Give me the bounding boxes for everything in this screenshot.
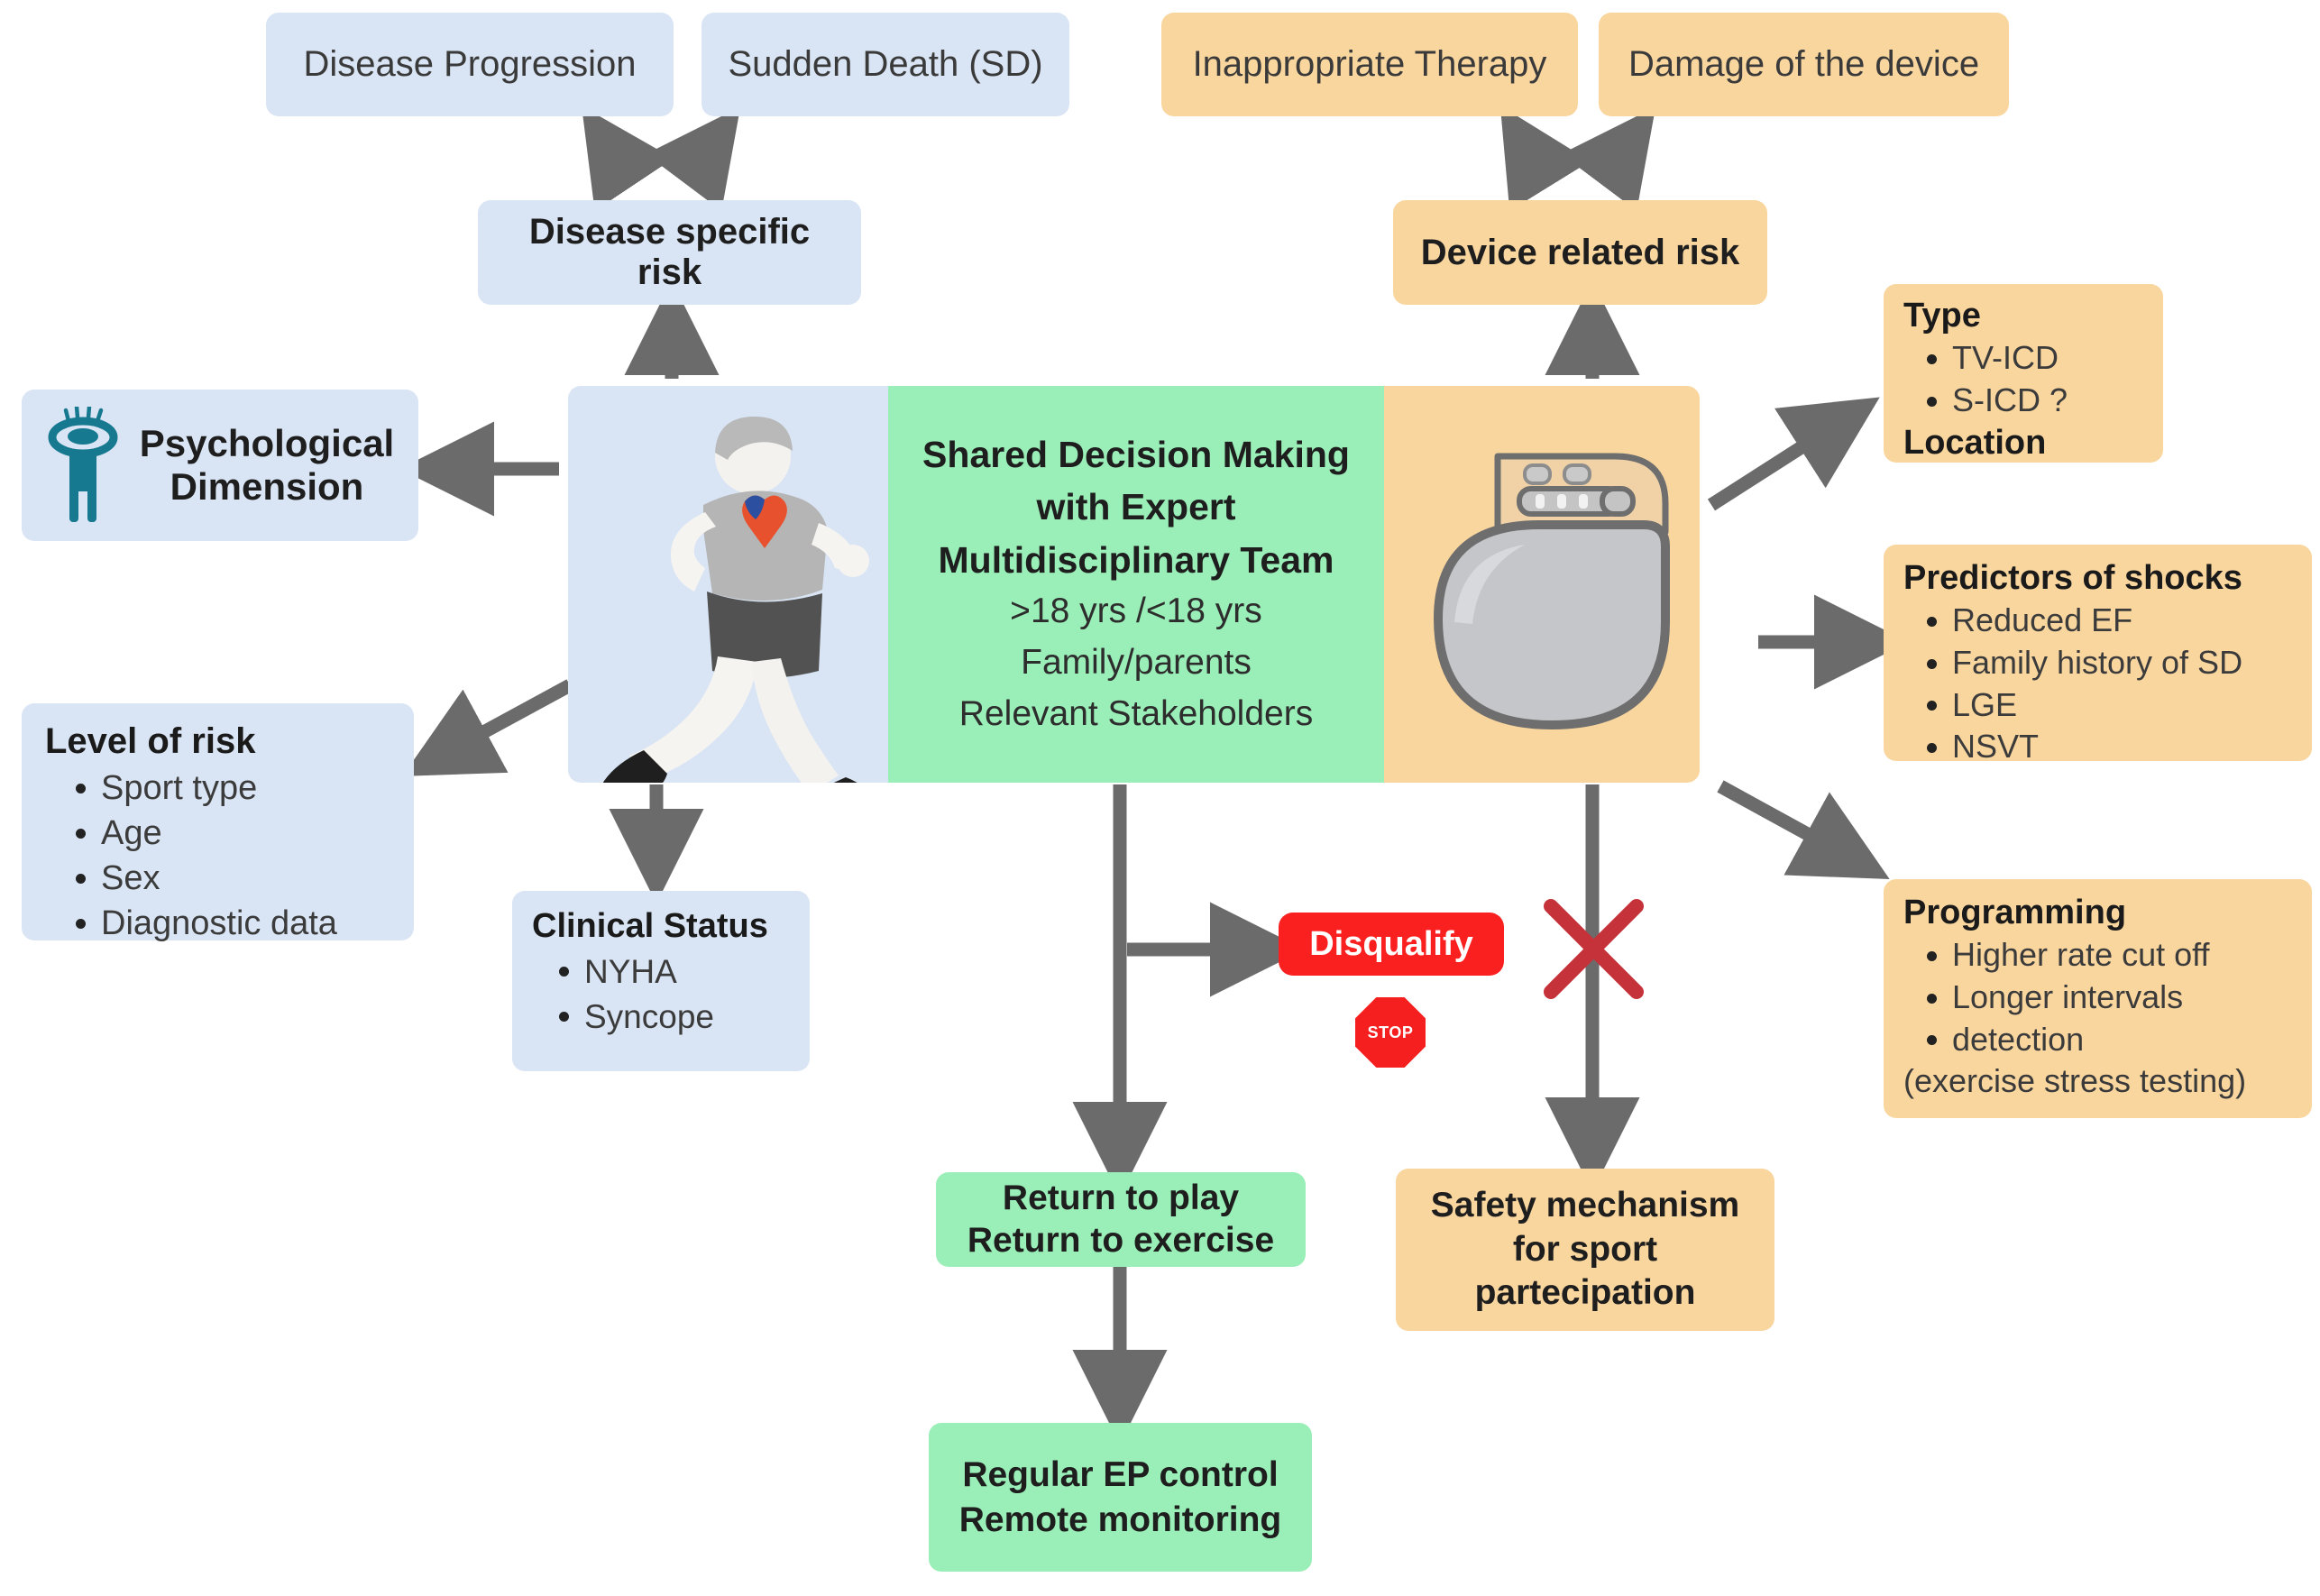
disease-specific-risk-line1: Disease specific (478, 212, 861, 252)
list-item: Family history of SD (1952, 642, 2299, 684)
stop-sign-icon: STOP (1355, 997, 1426, 1068)
sudden-death-label: Sudden Death (SD) (702, 44, 1069, 85)
panel-device-orange[interactable] (1384, 386, 1700, 783)
list-item: Reduced EF (1952, 600, 2299, 642)
device-related-risk-label: Device related risk (1393, 233, 1767, 273)
psychology-person-icon (41, 407, 124, 524)
regular-ep-line1: Regular EP control (929, 1453, 1312, 1498)
sdm-line6: Relevant Stakeholders (888, 689, 1384, 740)
level-of-risk-list: Sport type Age Sex Diagnostic data (45, 766, 396, 947)
psychological-dimension-line1: Psychological (124, 422, 409, 465)
box-disease-specific-risk[interactable]: Disease specific risk (478, 200, 861, 305)
sdm-line2: with Expert (888, 481, 1384, 533)
type-header: Type (1903, 297, 2150, 335)
box-programming[interactable]: Programming Higher rate cut off Longer i… (1884, 879, 2312, 1118)
list-item: LGE (1952, 684, 2299, 727)
return-to-play-line1: Return to play (936, 1178, 1306, 1220)
box-inappropriate-therapy[interactable]: Inappropriate Therapy (1161, 13, 1578, 116)
list-item: NSVT (1952, 726, 2299, 768)
level-of-risk-header: Level of risk (45, 721, 396, 762)
safety-line2: for sport (1396, 1228, 1774, 1271)
predictors-list: Reduced EF Family history of SD LGE NSVT (1903, 600, 2299, 768)
sdm-line5: Family/parents (888, 637, 1384, 689)
sdm-line4: >18 yrs /<18 yrs (888, 586, 1384, 637)
box-safety-mechanism[interactable]: Safety mechanism for sport partecipation (1396, 1169, 1774, 1331)
panel-shared-decision-making[interactable]: Shared Decision Making with Expert Multi… (888, 386, 1384, 783)
list-item: Higher rate cut off (1952, 934, 2299, 977)
badge-disqualify[interactable]: Disqualify (1279, 913, 1504, 976)
box-damage-of-device[interactable]: Damage of the device (1599, 13, 2009, 116)
box-disease-progression[interactable]: Disease Progression (266, 13, 674, 116)
sdm-line3: Multidisciplinary Team (888, 534, 1384, 586)
list-item: Syncope (584, 995, 793, 1040)
box-psychological-dimension[interactable]: Psychological Dimension (22, 390, 418, 541)
regular-ep-line2: Remote monitoring (929, 1498, 1312, 1543)
psychological-dimension-line2: Dimension (124, 465, 409, 509)
safety-line1: Safety mechanism (1396, 1184, 1774, 1227)
list-item: TV-ICD (1952, 337, 2150, 380)
predictors-header: Predictors of shocks (1903, 559, 2299, 598)
sdm-line1: Shared Decision Making (888, 428, 1384, 481)
box-predictors-of-shocks[interactable]: Predictors of shocks Reduced EF Family h… (1884, 545, 2312, 761)
list-item: S-ICD ? (1952, 380, 2150, 422)
box-device-related-risk[interactable]: Device related risk (1393, 200, 1767, 305)
icd-device-icon (1384, 386, 1700, 783)
list-item: Longer intervals (1952, 977, 2299, 1019)
programming-detection-text: detection (1952, 1021, 2084, 1058)
list-item: Age (101, 811, 396, 856)
type-list: TV-ICD S-ICD ? (1903, 337, 2150, 422)
list-item: NYHA (584, 949, 793, 995)
list-item: Diagnostic data (101, 901, 396, 946)
return-to-play-line2: Return to exercise (936, 1220, 1306, 1262)
box-type[interactable]: Type TV-ICD S-ICD ? Location (1884, 284, 2163, 463)
damage-of-device-label: Damage of the device (1599, 44, 2009, 85)
flowchart-canvas: Disease Progression Sudden Death (SD) Di… (0, 0, 2320, 1596)
red-x-icon (1551, 906, 1637, 992)
disease-progression-label: Disease Progression (266, 44, 674, 85)
list-item: Sport type (101, 766, 396, 811)
list-item: Sex (101, 856, 396, 901)
panel-runner-blue[interactable] (568, 386, 888, 783)
type-location-label: Location (1903, 424, 2150, 463)
disqualify-label: Disqualify (1279, 925, 1504, 964)
programming-footer: (exercise stress testing) (1903, 1062, 2299, 1100)
programming-header: Programming (1903, 894, 2299, 932)
clinical-status-list: NYHA Syncope (532, 949, 793, 1039)
safety-line3: partecipation (1396, 1271, 1774, 1315)
box-regular-ep-control[interactable]: Regular EP control Remote monitoring (929, 1423, 1312, 1572)
box-sudden-death[interactable]: Sudden Death (SD) (702, 13, 1069, 116)
disease-specific-risk-line2: risk (478, 252, 861, 293)
clinical-status-header: Clinical Status (532, 907, 793, 946)
box-level-of-risk[interactable]: Level of risk Sport type Age Sex Diagnos… (22, 703, 414, 940)
inappropriate-therapy-label: Inappropriate Therapy (1161, 44, 1578, 85)
stop-sign-label: STOP (1368, 1023, 1414, 1042)
runner-with-heart-icon (568, 386, 888, 783)
programming-list: Higher rate cut off Longer intervals det… (1903, 934, 2299, 1060)
programming-detection-cont: detection (1952, 1019, 2299, 1061)
box-return-to-play[interactable]: Return to play Return to exercise (936, 1172, 1306, 1267)
box-clinical-status[interactable]: Clinical Status NYHA Syncope (512, 891, 810, 1071)
